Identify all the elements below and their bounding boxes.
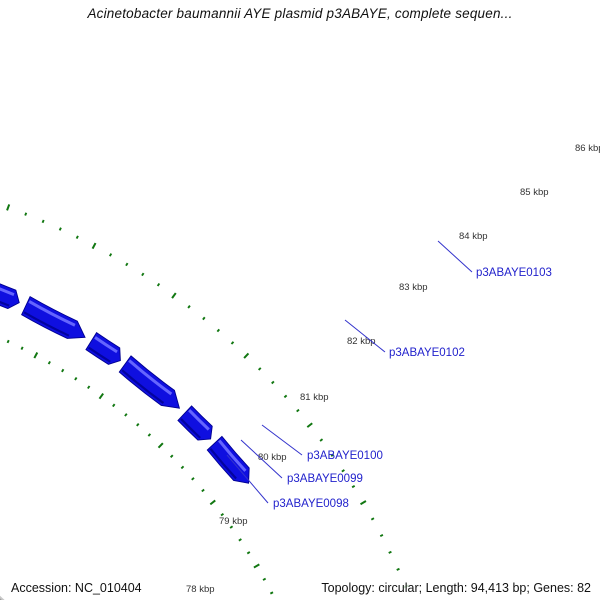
gene-label-p3ABAYE0100[interactable]: p3ABAYE0100 — [307, 450, 383, 462]
circular-genome-plot[interactable]: 78 kbp79 kbp80 kbp81 kbp82 kbp83 kbp84 k… — [0, 0, 600, 600]
gene-feature[interactable] — [207, 436, 249, 483]
axis-tick-label-79: 79 kbp — [219, 516, 248, 527]
tick-ring-inner — [0, 288, 320, 600]
gene-leader-lines — [227, 241, 472, 503]
page-title: Acinetobacter baumannii AYE plasmid p3AB… — [0, 6, 600, 21]
axis-tick-label-80: 80 kbp — [258, 452, 287, 463]
gene-label-p3ABAYE0098[interactable]: p3ABAYE0098 — [273, 498, 349, 510]
leader-line-p3ABAYE0100 — [262, 425, 302, 455]
gene-feature[interactable] — [119, 356, 179, 408]
gene-arcs[interactable] — [0, 245, 249, 483]
axis-tick-label-78: 78 kbp — [186, 584, 215, 595]
leader-line-p3ABAYE0103 — [438, 241, 472, 272]
gene-label-p3ABAYE0102[interactable]: p3ABAYE0102 — [389, 347, 465, 359]
axis-tick-label-86: 86 kbp — [575, 143, 600, 154]
tick-labels: 78 kbp79 kbp80 kbp81 kbp82 kbp83 kbp84 k… — [186, 143, 600, 595]
gene-labels[interactable]: p3ABAYE0098p3ABAYE0099p3ABAYE0100p3ABAYE… — [273, 267, 552, 510]
gene-label-p3ABAYE0103[interactable]: p3ABAYE0103 — [476, 267, 552, 279]
gene-label-p3ABAYE0099[interactable]: p3ABAYE0099 — [287, 473, 363, 485]
tick-ring-outer — [0, 164, 439, 600]
axis-tick-label-81: 81 kbp — [300, 392, 329, 403]
gene-feature[interactable] — [178, 406, 212, 440]
axis-tick-label-85: 85 kbp — [520, 187, 549, 198]
axis-tick-label-83: 83 kbp — [399, 282, 428, 293]
genome-map-canvas[interactable]: 78 kbp79 kbp80 kbp81 kbp82 kbp83 kbp84 k… — [0, 0, 600, 600]
axis-tick-label-84: 84 kbp — [459, 231, 488, 242]
